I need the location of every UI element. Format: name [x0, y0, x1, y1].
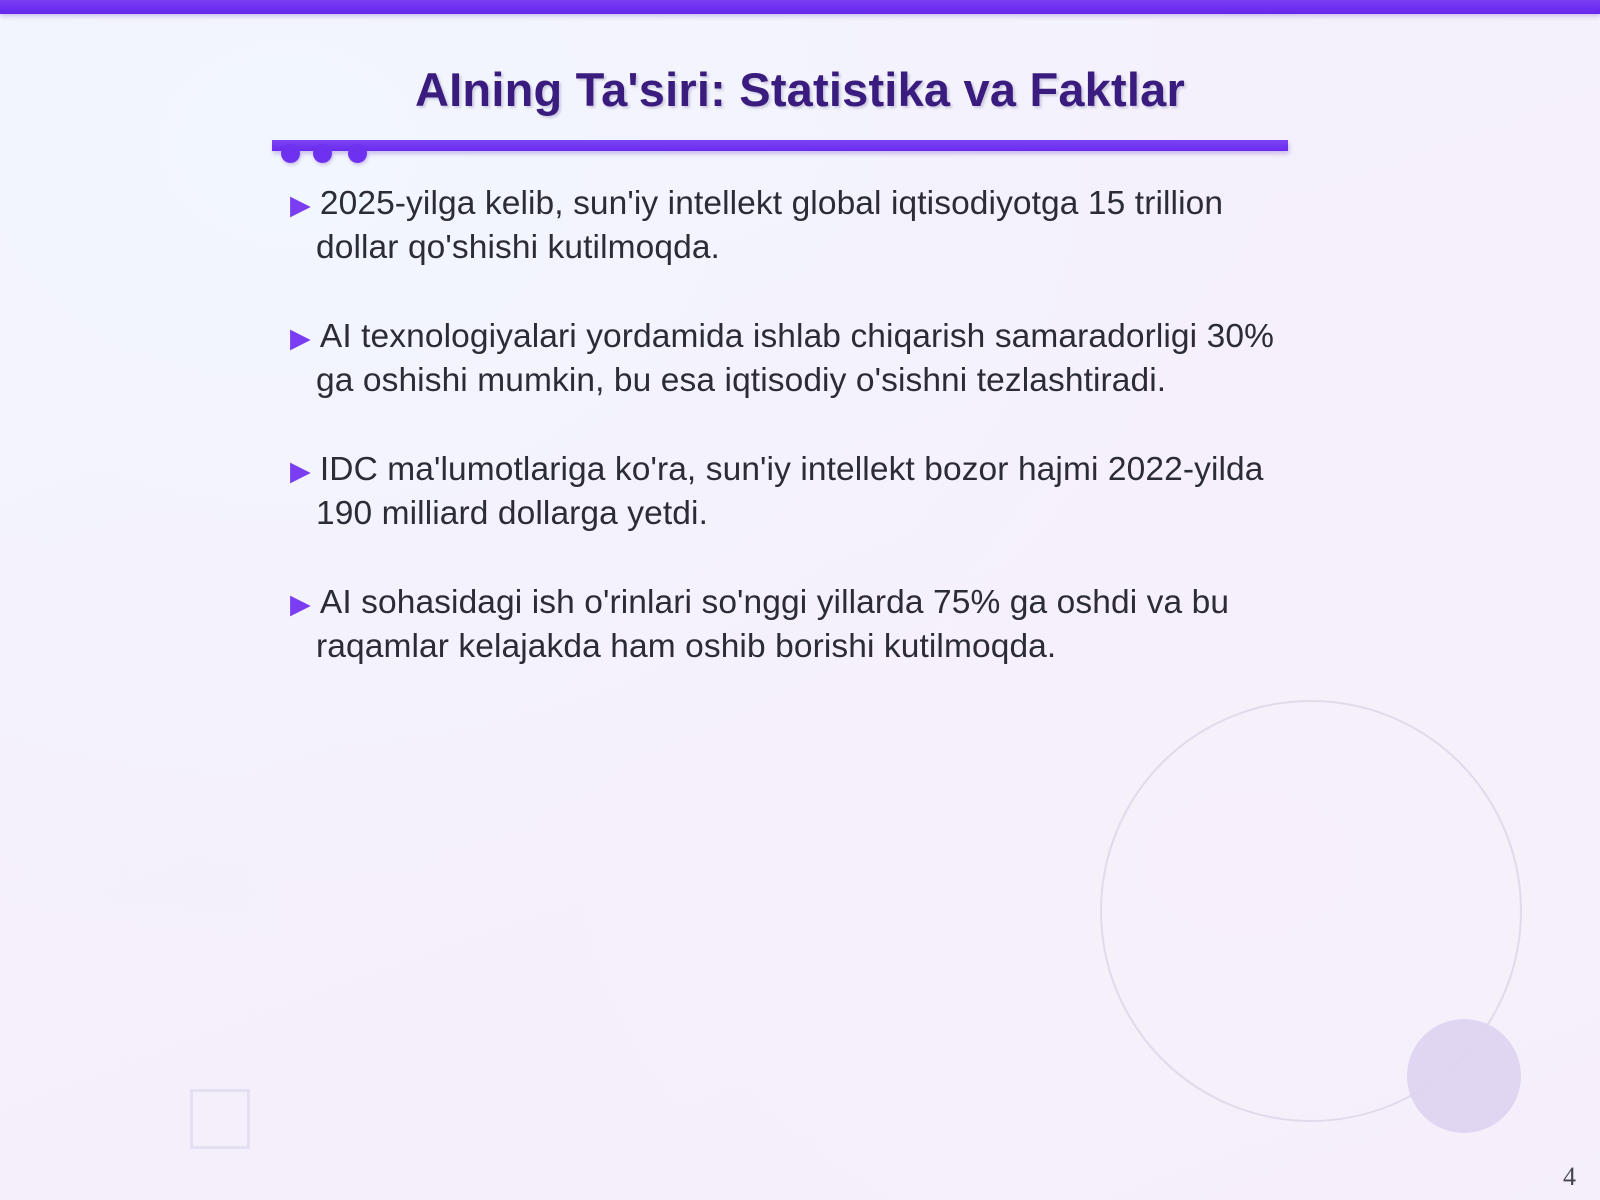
- page-number: 4: [1563, 1162, 1576, 1192]
- triangle-bullet-icon: ▶: [290, 323, 320, 353]
- list-item: ▶2025-yilga kelib, sun'iy intellekt glob…: [290, 182, 1290, 269]
- decorative-circle-filled: [1407, 1019, 1521, 1133]
- triangle-bullet-icon: ▶: [290, 589, 320, 619]
- title-underline-group: [272, 140, 1288, 166]
- triangle-bullet-icon: ▶: [290, 190, 320, 220]
- bullet-list: ▶2025-yilga kelib, sun'iy intellekt glob…: [290, 182, 1290, 668]
- underline-dot-2-icon: [313, 144, 332, 163]
- list-item-text: 2025-yilga kelib, sun'iy intellekt globa…: [316, 185, 1223, 266]
- slide: AIning Ta'siri: Statistika va Faktlar ▶2…: [0, 0, 1600, 1200]
- page-title: AIning Ta'siri: Statistika va Faktlar: [0, 62, 1600, 117]
- underline-dot-3-icon: [348, 144, 367, 163]
- list-item-text: IDC ma'lumotlariga ko'ra, sun'iy intelle…: [316, 451, 1264, 532]
- title-block: AIning Ta'siri: Statistika va Faktlar: [0, 62, 1600, 117]
- list-item-text: AI sohasidagi ish o'rinlari so'nggi yill…: [316, 584, 1229, 665]
- triangle-bullet-icon: ▶: [290, 456, 320, 486]
- list-item-text: AI texnologiyalari yordamida ishlab chiq…: [316, 318, 1274, 399]
- decorative-square-outline: [190, 1089, 250, 1149]
- list-item: ▶IDC ma'lumotlariga ko'ra, sun'iy intell…: [290, 448, 1290, 535]
- title-underline-bar: [272, 140, 1288, 151]
- top-accent-bar: [0, 0, 1600, 14]
- list-item: ▶AI texnologiyalari yordamida ishlab chi…: [290, 315, 1290, 402]
- underline-dot-1-icon: [281, 144, 300, 163]
- list-item: ▶AI sohasidagi ish o'rinlari so'nggi yil…: [290, 581, 1290, 668]
